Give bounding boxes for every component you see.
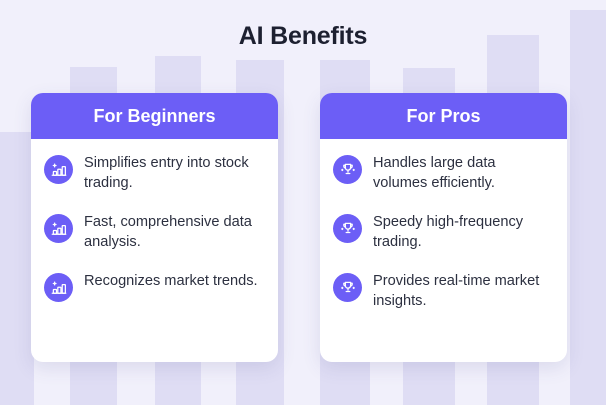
list-item: Handles large data volumes efficiently. [333, 153, 553, 193]
list-item: Fast, comprehensive data analysis. [44, 212, 264, 252]
background-bar [0, 132, 34, 405]
card-for-beginners: For Beginners Simplifies entry into stoc… [31, 93, 278, 362]
list-item-label: Speedy high-frequency trading. [373, 212, 553, 252]
card-header-beginners: For Beginners [31, 93, 278, 139]
card-body-pros: Handles large data volumes efficiently. … [320, 139, 567, 362]
list-item: Simplifies entry into stock trading. [44, 153, 264, 193]
trophy-sparkle-icon [333, 155, 362, 184]
list-item-label: Provides real-time market insights. [373, 271, 553, 311]
list-item-label: Simplifies entry into stock trading. [84, 153, 264, 193]
list-item: Recognizes market trends. [44, 271, 264, 302]
infographic-canvas: AI Benefits For Beginners Simplifies ent… [0, 0, 606, 405]
bar-chart-sparkle-icon [44, 155, 73, 184]
list-item-label: Recognizes market trends. [84, 271, 258, 291]
page-title: AI Benefits [0, 22, 606, 51]
background-bar [570, 10, 606, 405]
card-body-beginners: Simplifies entry into stock trading. Fas… [31, 139, 278, 362]
trophy-sparkle-icon [333, 214, 362, 243]
list-item-label: Fast, comprehensive data analysis. [84, 212, 264, 252]
list-item-label: Handles large data volumes efficiently. [373, 153, 553, 193]
trophy-sparkle-icon [333, 273, 362, 302]
bar-chart-sparkle-icon [44, 273, 73, 302]
list-item: Provides real-time market insights. [333, 271, 553, 311]
card-header-pros: For Pros [320, 93, 567, 139]
card-for-pros: For Pros Handles large data volumes effi… [320, 93, 567, 362]
list-item: Speedy high-frequency trading. [333, 212, 553, 252]
bar-chart-sparkle-icon [44, 214, 73, 243]
